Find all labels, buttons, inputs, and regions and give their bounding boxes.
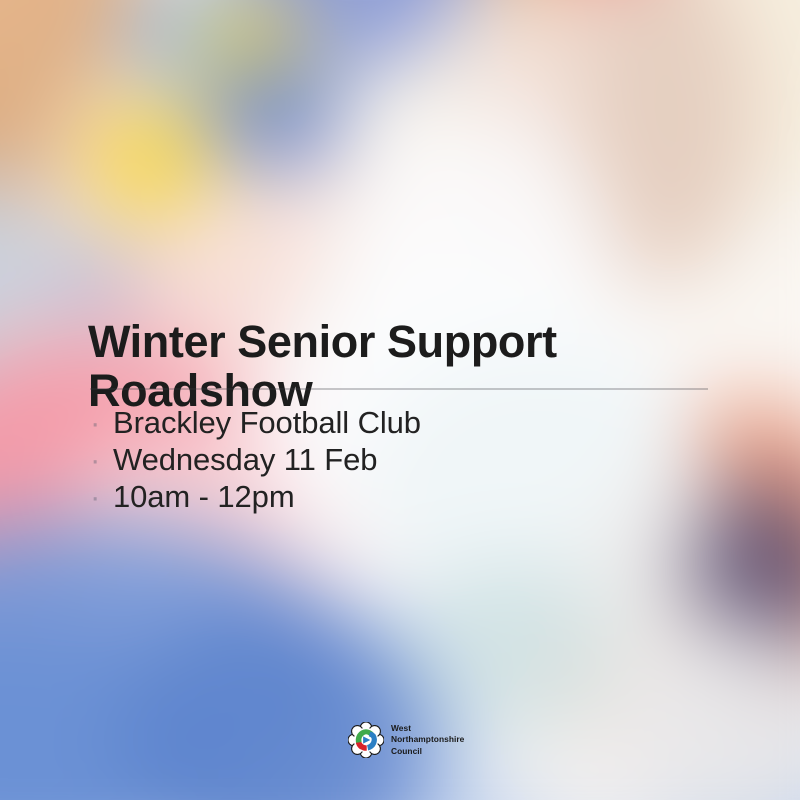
bullet-icon: ·	[90, 478, 113, 515]
event-venue: Brackley Football Club	[113, 404, 421, 441]
event-poster: Winter Senior Support Roadshow · Brackle…	[0, 0, 800, 800]
bullet-icon: ·	[90, 441, 113, 478]
council-logo-text: West Northamptonshire Council	[391, 723, 464, 756]
event-time: 10am - 12pm	[113, 478, 295, 515]
event-date: Wednesday 11 Feb	[113, 441, 377, 478]
council-logo: West Northamptonshire Council	[348, 722, 464, 758]
poster-content: Winter Senior Support Roadshow · Brackle…	[0, 0, 800, 800]
list-item: · 10am - 12pm	[90, 478, 421, 515]
logo-line-1: West	[391, 723, 464, 734]
logo-line-2: Northamptonshire	[391, 734, 464, 745]
bullet-icon: ·	[90, 404, 113, 441]
logo-line-3: Council	[391, 746, 464, 757]
page-title: Winter Senior Support Roadshow	[88, 318, 748, 415]
list-item: · Brackley Football Club	[90, 404, 421, 441]
list-item: · Wednesday 11 Feb	[90, 441, 421, 478]
event-details-list: · Brackley Football Club · Wednesday 11 …	[90, 404, 421, 515]
title-divider	[90, 388, 708, 390]
west-northamptonshire-council-emblem-icon	[348, 722, 384, 758]
